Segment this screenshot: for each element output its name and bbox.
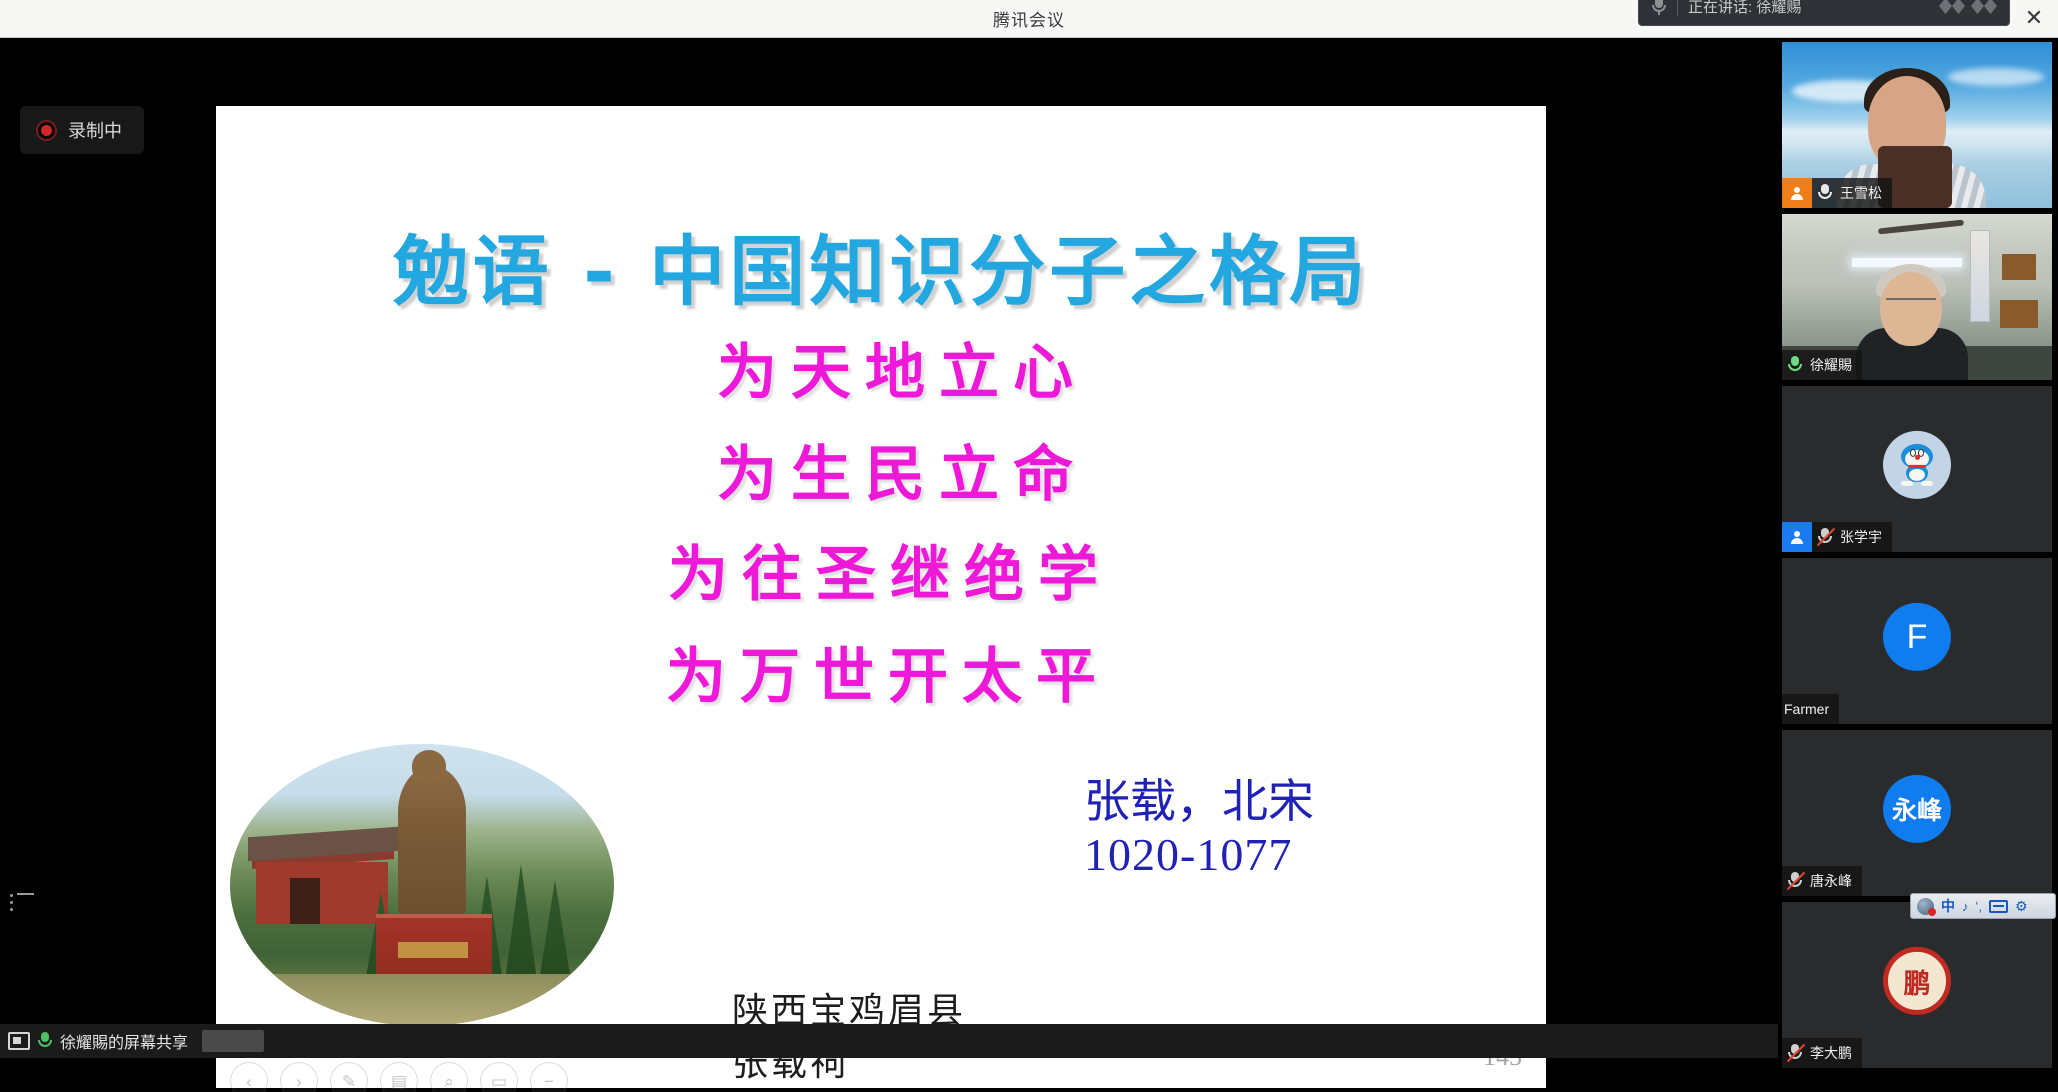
- screen-share-taskbar: 徐耀賜的屏幕共享: [0, 1024, 1778, 1058]
- microphone-icon: [1782, 350, 1808, 380]
- divider: [1677, 0, 1678, 16]
- meeting-window: 腾讯会议 正在讲话: 徐耀赐 ✕ 录制中 勉语 - 中国知识分子之格局 为天地立…: [0, 0, 2058, 1092]
- screen-share-label: 徐耀賜的屏幕共享: [60, 1029, 188, 1053]
- participant-tile[interactable]: 张学宇: [1782, 386, 2052, 552]
- zoom-search-button[interactable]: ⌕: [430, 1062, 468, 1092]
- shared-screen-stage: 录制中 勉语 - 中国知识分子之格局 为天地立心 为生民立命 为往圣继绝学 为万…: [0, 38, 1778, 1058]
- microphone-muted-icon: [1782, 866, 1808, 896]
- music-note-icon[interactable]: ♪: [1962, 899, 1969, 914]
- avatar: F: [1883, 603, 1951, 671]
- participant-badge-icon: [1782, 522, 1812, 552]
- participant-tile[interactable]: 王雪松: [1782, 42, 2052, 208]
- participant-name: 唐永峰: [1808, 871, 1862, 891]
- microphone-icon: [1812, 178, 1838, 208]
- next-page-button[interactable]: ›: [280, 1062, 318, 1092]
- active-speaker-bar[interactable]: 正在讲话: 徐耀赐: [1638, 0, 2010, 26]
- participant-name: 李大鹏: [1808, 1043, 1862, 1063]
- participant-name: 张学宇: [1838, 527, 1892, 547]
- participant-tile[interactable]: 鹏 李大鹏: [1782, 902, 2052, 1068]
- slide-verse-2: 为生民立命: [216, 426, 1546, 513]
- close-icon[interactable]: ✕: [2016, 2, 2052, 34]
- punctuation-icon[interactable]: ʻ,: [1976, 899, 1983, 914]
- audio-wave-icon: [1939, 0, 1997, 14]
- microphone-icon[interactable]: [38, 1031, 52, 1051]
- sogou-globe-icon[interactable]: [1917, 898, 1934, 915]
- gear-icon[interactable]: ⚙: [2015, 898, 2028, 915]
- slide-verse-3: 为往圣继绝学: [216, 526, 1546, 613]
- ime-toolbar[interactable]: 中 ♪ ʻ, ⚙: [1910, 893, 2056, 919]
- microphone-icon: [1651, 0, 1667, 17]
- recording-indicator[interactable]: 录制中: [20, 106, 144, 154]
- pdf-viewer-toolbar: ‹ › ✎ ▤ ⌕ ▭ −: [230, 1062, 568, 1092]
- recording-label: 录制中: [68, 117, 122, 143]
- doraemon-avatar-icon: [1897, 444, 1937, 486]
- participant-label: 徐耀賜: [1782, 350, 1862, 380]
- seal-avatar-icon: 鹏: [1883, 947, 1951, 1015]
- page-view-button[interactable]: ▭: [480, 1062, 518, 1092]
- participant-label: Farmer: [1782, 694, 1839, 724]
- zhang-zai-shrine-photo: [230, 744, 614, 1026]
- avatar: 永峰: [1883, 775, 1951, 843]
- participant-tile[interactable]: 徐耀賜: [1782, 214, 2052, 380]
- slide-verse-1: 为天地立心: [216, 324, 1546, 411]
- microphone-muted-icon: [1812, 522, 1838, 552]
- participant-name: 徐耀賜: [1808, 355, 1862, 375]
- record-dot-icon: [36, 120, 57, 141]
- previous-page-button[interactable]: ‹: [230, 1062, 268, 1092]
- participant-label: 李大鹏: [1782, 1038, 1862, 1068]
- microphone-muted-icon: [1782, 1038, 1808, 1068]
- participant-rail: 王雪松 徐耀賜: [1778, 38, 2058, 1092]
- participant-name: 王雪松: [1838, 183, 1892, 203]
- attribution-years: 1020-1077: [1084, 828, 1314, 882]
- screen-share-icon: [8, 1032, 30, 1050]
- attribution-author: 张载，北宋: [1084, 774, 1314, 828]
- active-speaker-label: 正在讲话: 徐耀赐: [1688, 0, 1801, 17]
- layout-grid-button[interactable]: ▤: [380, 1062, 418, 1092]
- ime-language-toggle[interactable]: 中: [1941, 896, 1955, 916]
- avatar: 鹏: [1883, 947, 1951, 1015]
- pen-annotate-button[interactable]: ✎: [330, 1062, 368, 1092]
- presentation-slide: 勉语 - 中国知识分子之格局 为天地立心 为生民立命 为往圣继绝学 为万世开太平…: [216, 106, 1546, 1088]
- zoom-out-button[interactable]: −: [530, 1062, 568, 1092]
- participant-name: Farmer: [1782, 701, 1839, 717]
- participant-tile[interactable]: 永峰 唐永峰: [1782, 730, 2052, 896]
- participant-label: 唐永峰: [1782, 866, 1862, 896]
- taskbar-window-chip[interactable]: [202, 1030, 264, 1052]
- participant-label: 张学宇: [1782, 522, 1892, 552]
- slide-title: 勉语 - 中国知识分子之格局: [216, 210, 1546, 320]
- app-title: 腾讯会议: [993, 6, 1065, 31]
- outline-list-icon[interactable]: [10, 893, 36, 915]
- slide-attribution: 张载，北宋 1020-1077: [1084, 774, 1314, 883]
- keyboard-icon[interactable]: [1989, 900, 2008, 913]
- slide-verse-4: 为万世开太平: [216, 628, 1546, 715]
- avatar: [1883, 431, 1951, 499]
- participant-tile[interactable]: F Farmer: [1782, 558, 2052, 724]
- participant-label: 王雪松: [1782, 178, 1892, 208]
- host-badge-icon: [1782, 178, 1812, 208]
